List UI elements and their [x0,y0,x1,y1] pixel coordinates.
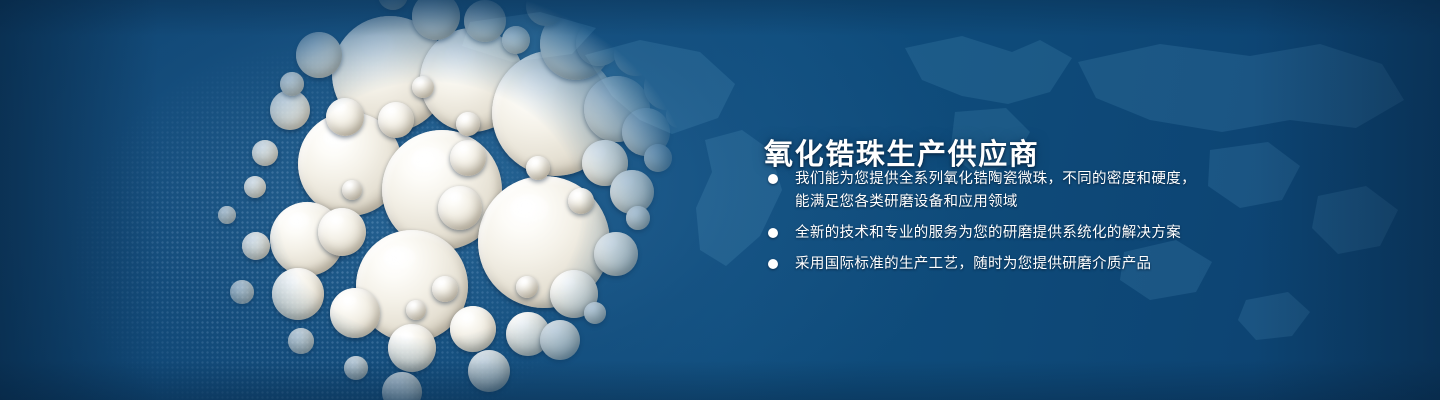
bullet-dot-icon [768,228,778,238]
hero-banner: 氧化锆珠生产供应商 我们能为您提供全系列氧化锆陶瓷微珠，不同的密度和硬度， 能满… [0,0,1440,400]
feature-line-2: 能满足您各类研磨设备和应用领域 [795,191,1234,214]
feature-list: 我们能为您提供全系列氧化锆陶瓷微珠，不同的密度和硬度， 能满足您各类研磨设备和应… [764,168,1234,276]
feature-text: 全新的技术和专业的服务为您的研磨提供系统化的解决方案 [795,222,1234,245]
feature-text: 采用国际标准的生产工艺，随时为您提供研磨介质产品 [795,253,1234,276]
list-item: 全新的技术和专业的服务为您的研磨提供系统化的解决方案 [764,222,1234,245]
bullet-dot-icon [768,174,778,184]
banner-content: 氧化锆珠生产供应商 我们能为您提供全系列氧化锆陶瓷微珠，不同的密度和硬度， 能满… [764,0,1324,400]
feature-line-1: 全新的技术和专业的服务为您的研磨提供系统化的解决方案 [795,225,1181,241]
zirconia-beads-image [120,0,760,400]
bullet-dot-icon [768,259,778,269]
feature-line-1: 我们能为您提供全系列氧化锆陶瓷微珠，不同的密度和硬度， [795,171,1196,187]
feature-line-1: 采用国际标准的生产工艺，随时为您提供研磨介质产品 [795,256,1151,272]
list-item: 采用国际标准的生产工艺，随时为您提供研磨介质产品 [764,253,1234,276]
halftone-texture [0,0,720,400]
feature-text: 我们能为您提供全系列氧化锆陶瓷微珠，不同的密度和硬度， 能满足您各类研磨设备和应… [795,168,1234,214]
list-item: 我们能为您提供全系列氧化锆陶瓷微珠，不同的密度和硬度， 能满足您各类研磨设备和应… [764,168,1234,214]
